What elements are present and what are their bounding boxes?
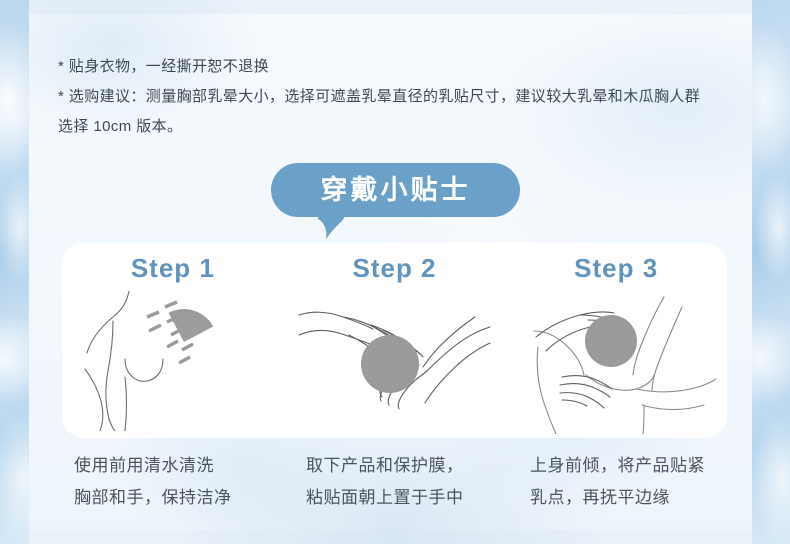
- step-1-illustration: [62, 291, 284, 431]
- tips-banner-title: 穿戴小贴士: [321, 177, 471, 204]
- step-3-title: Step 3: [505, 253, 727, 284]
- torso-shower-icon: [83, 291, 263, 431]
- step-3-caption-line-1: 上身前倾，将产品贴紧: [530, 450, 754, 482]
- patch-disc-icon: [361, 335, 419, 393]
- patch-disc-icon: [585, 315, 637, 367]
- ice-texture-right: [752, 0, 790, 544]
- step-1: Step 1: [62, 243, 284, 438]
- step-1-caption: 使用前用清水清洗 胸部和手，保持洁净: [62, 450, 298, 514]
- tips-banner-body: 穿戴小贴士: [271, 163, 520, 217]
- step-2: Step 2: [284, 243, 506, 438]
- steps-container: Step 1: [62, 243, 727, 438]
- tips-banner: 穿戴小贴士: [271, 163, 520, 217]
- step-1-caption-line-2: 胸部和手，保持洁净: [74, 482, 298, 514]
- step-2-caption-line-1: 取下产品和保护膜，: [306, 450, 530, 482]
- step-2-caption-line-2: 粘贴面朝上置于手中: [306, 482, 530, 514]
- step-3-caption: 上身前倾，将产品贴紧 乳点，再抚平边缘: [530, 450, 754, 514]
- step-2-illustration: [284, 291, 506, 431]
- ice-texture-left: [0, 0, 29, 544]
- page-root: * 贴身衣物，一经撕开恕不退换 * 选购建议：测量胸部乳晕大小，选择可遮盖乳晕直…: [0, 0, 790, 544]
- step-2-title: Step 2: [284, 253, 506, 284]
- step-3-caption-line-2: 乳点，再抚平边缘: [530, 482, 754, 514]
- note-line-return-policy: * 贴身衣物，一经撕开恕不退换: [58, 52, 748, 82]
- torso-applying-patch-icon: [516, 289, 716, 434]
- captions-row: 使用前用清水清洗 胸部和手，保持洁净 取下产品和保护膜， 粘贴面朝上置于手中 上…: [62, 450, 754, 514]
- step-3: Step 3: [505, 243, 727, 438]
- hands-holding-patch-icon: [297, 291, 492, 431]
- notes-block: * 贴身衣物，一经撕开恕不退换 * 选购建议：测量胸部乳晕大小，选择可遮盖乳晕直…: [58, 52, 748, 142]
- step-1-title: Step 1: [62, 253, 284, 284]
- speech-bubble-tail-icon: [318, 215, 346, 239]
- note-line-sizing-advice: * 选购建议：测量胸部乳晕大小，选择可遮盖乳晕直径的乳贴尺寸，建议较大乳晕和木瓜…: [58, 82, 748, 112]
- step-2-caption: 取下产品和保护膜， 粘贴面朝上置于手中: [298, 450, 530, 514]
- step-3-illustration: [505, 291, 727, 431]
- step-1-caption-line-1: 使用前用清水清洗: [74, 450, 298, 482]
- note-line-sizing-advice-cont: 选择 10cm 版本。: [58, 112, 748, 142]
